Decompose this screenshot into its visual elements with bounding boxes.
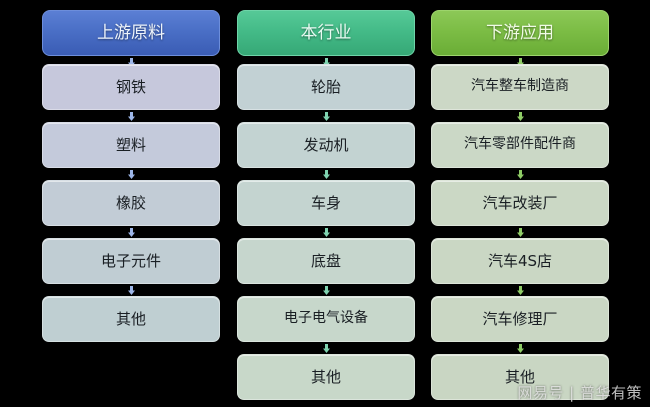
node-upstream-3[interactable]: 电子元件 [42,238,220,284]
node-industry-1[interactable]: 发动机 [237,122,415,168]
node-industry-5[interactable]: 其他 [237,354,415,400]
column-header-downstream[interactable]: 下游应用 [431,10,609,56]
node-industry-4[interactable]: 电子电气设备 [237,296,415,342]
arrow-down-icon [323,286,330,295]
arrow-down-icon [128,112,135,121]
node-industry-3[interactable]: 底盘 [237,238,415,284]
watermark: 网易号 | 普华有策 [517,382,642,403]
arrow-down-icon [128,228,135,237]
node-industry-2[interactable]: 车身 [237,180,415,226]
node-downstream-2[interactable]: 汽车改装厂 [431,180,609,226]
node-upstream-0[interactable]: 钢铁 [42,64,220,110]
node-upstream-2[interactable]: 橡胶 [42,180,220,226]
arrow-down-icon [323,112,330,121]
arrow-down-icon [517,170,524,179]
arrow-down-icon [517,286,524,295]
column-industry: 本行业轮胎发动机车身底盘电子电气设备其他 [237,0,415,407]
industry-chain-diagram: 上游原料钢铁塑料橡胶电子元件其他 本行业轮胎发动机车身底盘电子电气设备其他 下游… [0,0,650,407]
arrow-down-icon [517,112,524,121]
arrow-down-icon [323,170,330,179]
arrow-down-icon [323,344,330,353]
column-downstream: 下游应用汽车整车制造商汽车零部件配件商汽车改装厂汽车4S店汽车修理厂其他 [431,0,609,407]
arrow-down-icon [128,286,135,295]
arrow-down-icon [323,228,330,237]
node-upstream-4[interactable]: 其他 [42,296,220,342]
node-downstream-0[interactable]: 汽车整车制造商 [431,64,609,110]
node-downstream-1[interactable]: 汽车零部件配件商 [431,122,609,168]
arrow-down-icon [128,170,135,179]
column-header-industry[interactable]: 本行业 [237,10,415,56]
column-header-upstream[interactable]: 上游原料 [42,10,220,56]
node-industry-0[interactable]: 轮胎 [237,64,415,110]
arrow-down-icon [517,344,524,353]
node-downstream-4[interactable]: 汽车修理厂 [431,296,609,342]
column-upstream: 上游原料钢铁塑料橡胶电子元件其他 [42,0,220,407]
node-upstream-1[interactable]: 塑料 [42,122,220,168]
node-downstream-3[interactable]: 汽车4S店 [431,238,609,284]
arrow-down-icon [517,228,524,237]
